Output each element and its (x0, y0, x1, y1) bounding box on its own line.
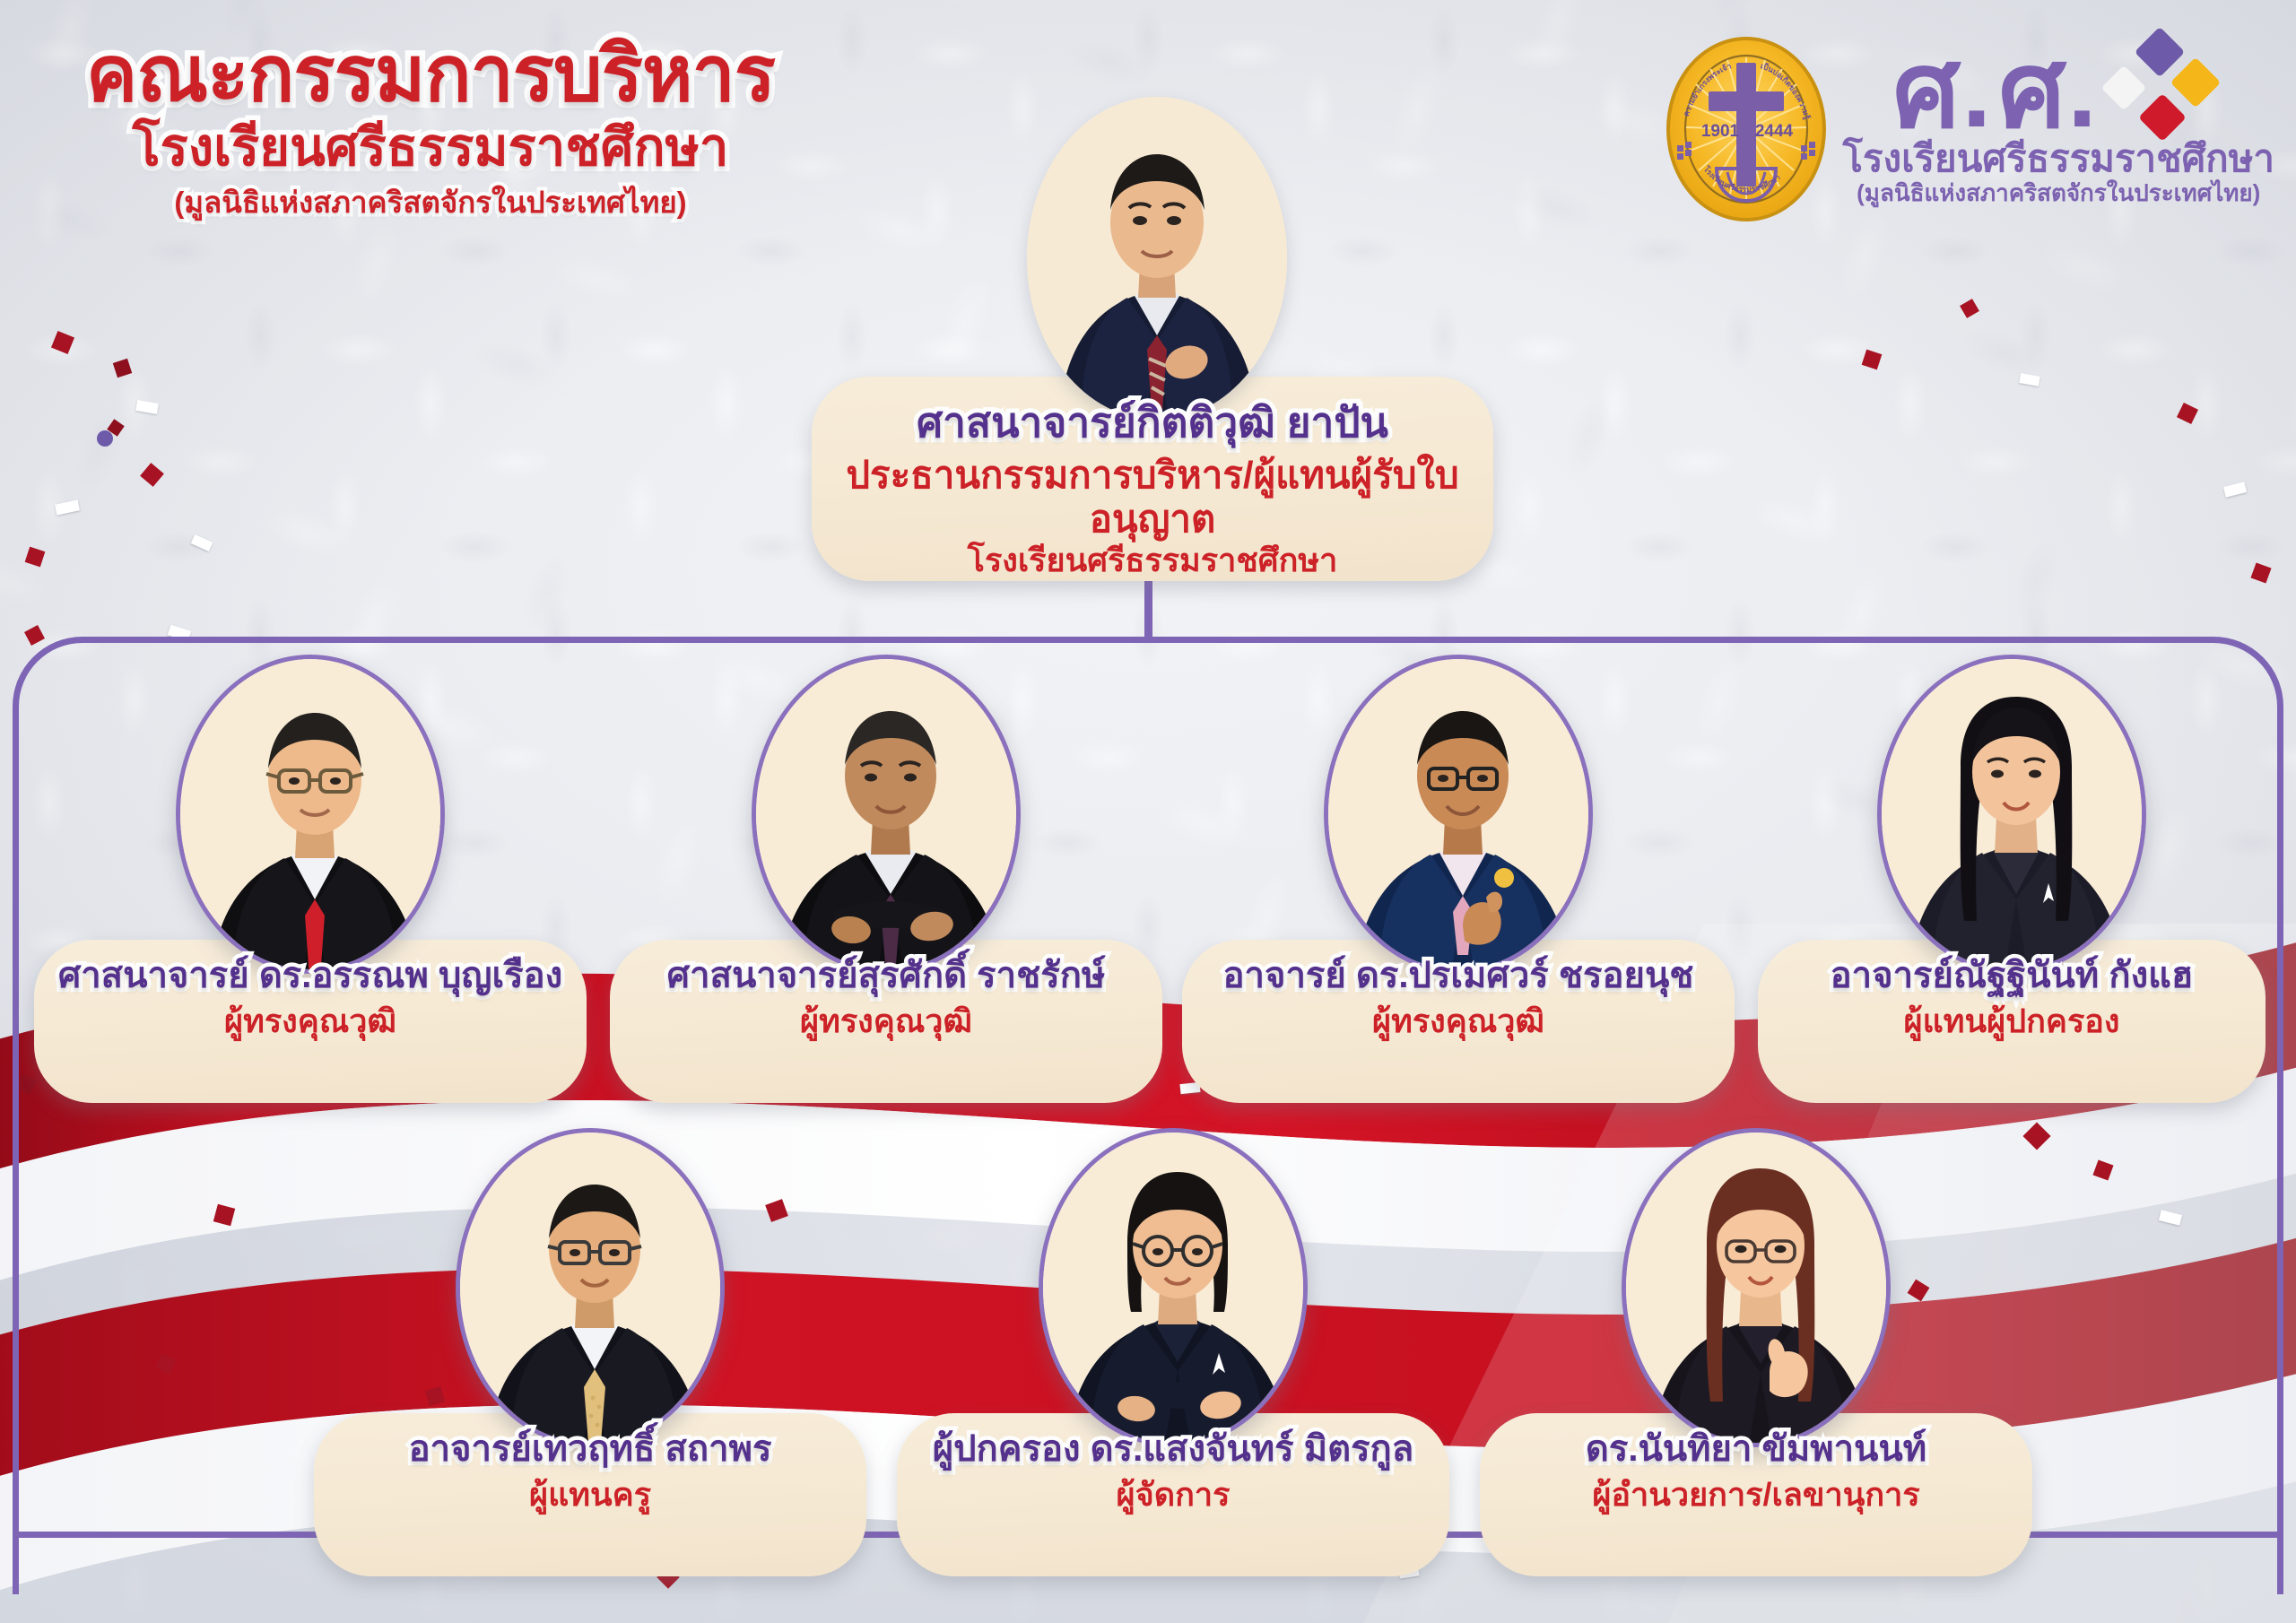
member-portrait-frame (456, 1128, 725, 1447)
school-wordmark-block: ศ. ศ. โรงเรียนศรีธรรมราชศึกษา (มูลนิธิแห… (1842, 32, 2274, 206)
member-text: ดร.นันทิยา ขัมพานนท์ ผู้อำนวยการ/เลขานุก… (1480, 1429, 2032, 1514)
diamond-purple-icon (2135, 27, 2186, 78)
member-portrait (1328, 659, 1593, 974)
member-name: ผู้ปกครอง ดร.แสงจันทร์ มิตรกูล (897, 1429, 1449, 1470)
member-role: ผู้ทรงคุณวุฒิ (34, 1002, 587, 1040)
member-text: อาจารย์ ดร.ปรเมศวร์ ชรอยนุช ผู้ทรงคุณวุฒ… (1182, 956, 1735, 1040)
member-text: ผู้ปกครอง ดร.แสงจันทร์ มิตรกูล ผู้จัดการ (897, 1429, 1449, 1514)
member-role: ผู้ทรงคุณวุฒิ (610, 1002, 1162, 1040)
member-text: ศาสนาจารย์สุรศักดิ์ ราชรักษ์ ผู้ทรงคุณวุ… (610, 956, 1162, 1040)
member-portrait-frame (752, 655, 1021, 974)
org-node-member-1[interactable]: ศาสนาจารย์ ดร.อรรณพ บุญเรือง ผู้ทรงคุณวุ… (34, 655, 587, 1103)
president-portrait-frame (1027, 97, 1287, 420)
logo-foundation-name: (มูลนิธิแห่งสภาคริสตจักรในประเทศไทย) (1842, 180, 2274, 206)
member-portrait-frame (1324, 655, 1593, 974)
president-org: โรงเรียนศรีธรรมราชศึกษา (812, 542, 1493, 578)
member-name: ศาสนาจารย์สุรศักดิ์ ราชรักษ์ (610, 956, 1162, 996)
member-portrait-frame (1039, 1128, 1308, 1447)
crest-year-left: 1901 (1701, 122, 1740, 141)
member-portrait (180, 659, 445, 974)
member-name: ศาสนาจารย์ ดร.อรรณพ บุญเรือง (34, 956, 587, 996)
member-name: อาจารย์ณัฐฐินันท์ กังแฮ (1758, 956, 2266, 996)
member-role: ผู้จัดการ (897, 1476, 1449, 1514)
member-role: ผู้อำนวยการ/เลขานุการ (1480, 1476, 2032, 1514)
member-portrait (1882, 659, 2146, 974)
member-role: ผู้แทนครู (314, 1476, 866, 1514)
member-portrait (460, 1133, 725, 1447)
member-role: ผู้ทรงคุณวุฒิ (1182, 1002, 1735, 1040)
school-logo-block: ศธ 1901 2444 ความยำเกรงพระเจ้า เป็นบ่อเก… (1665, 32, 2274, 222)
logo-diamond-cluster-icon (2106, 34, 2224, 147)
org-connector-line (1144, 574, 1152, 640)
president-role: ประธานกรรมการบริหาร/ผู้แทนผู้รับใบอนุญาต (812, 453, 1493, 542)
member-text: อาจารย์เทวฤทธิ์ สถาพร ผู้แทนครู (314, 1429, 866, 1514)
org-node-member-4[interactable]: อาจารย์ณัฐฐินันท์ กังแฮ ผู้แทนผู้ปกครอง (1758, 655, 2266, 1103)
org-node-member-2[interactable]: ศาสนาจารย์สุรศักดิ์ ราชรักษ์ ผู้ทรงคุณวุ… (610, 655, 1162, 1103)
poster-title-block: คณะกรรมการบริหาร โรงเรียนศรีธรรมราชศึกษา… (45, 34, 816, 220)
diamond-yellow-icon (2170, 57, 2222, 108)
school-wordmark: ศ. ศ. (1842, 34, 2274, 147)
page-title: คณะกรรมการบริหาร (45, 34, 816, 116)
member-portrait (1043, 1133, 1308, 1447)
member-portrait-frame (176, 655, 445, 974)
org-chart-poster: คณะกรรมการบริหาร โรงเรียนศรีธรรมราชศึกษา… (0, 0, 2296, 1623)
org-node-member-5[interactable]: อาจารย์เทวฤทธิ์ สถาพร ผู้แทนครู (314, 1128, 866, 1576)
diamond-white-icon (2100, 65, 2146, 111)
page-subtitle-foundation: (มูลนิธิแห่งสภาคริสตจักรในประเทศไทย) (45, 185, 816, 221)
member-name: อาจารย์ ดร.ปรเมศวร์ ชรอยนุช (1182, 956, 1735, 996)
member-portrait (1626, 1133, 1891, 1447)
member-role: ผู้แทนผู้ปกครอง (1758, 1002, 2266, 1040)
president-name: ศาสนาจารย์กิตติวุฒิ ยาปัน (812, 400, 1493, 447)
member-portrait (756, 659, 1021, 974)
wordmark-letter-left: ศ. (1893, 42, 1994, 140)
member-portrait-frame (1622, 1128, 1891, 1447)
diamond-red-icon (2138, 93, 2187, 142)
president-portrait (1027, 97, 1287, 420)
president-text: ศาสนาจารย์กิตติวุฒิ ยาปัน ประธานกรรมการบ… (812, 400, 1493, 578)
school-crest-icon: ศธ 1901 2444 ความยำเกรงพระเจ้า เป็นบ่อเก… (1665, 36, 1828, 222)
wordmark-letter-right: ศ. (1998, 42, 2099, 140)
member-text: ศาสนาจารย์ ดร.อรรณพ บุญเรือง ผู้ทรงคุณวุ… (34, 956, 587, 1040)
crest-year-right: 2444 (1755, 122, 1794, 141)
member-name: ดร.นันทิยา ขัมพานนท์ (1480, 1429, 2032, 1470)
member-name: อาจารย์เทวฤทธิ์ สถาพร (314, 1429, 866, 1470)
member-portrait-frame (1877, 655, 2146, 974)
org-node-member-7[interactable]: ดร.นันทิยา ขัมพานนท์ ผู้อำนวยการ/เลขานุก… (1480, 1128, 2032, 1576)
org-node-member-3[interactable]: อาจารย์ ดร.ปรเมศวร์ ชรอยนุช ผู้ทรงคุณวุฒ… (1182, 655, 1735, 1103)
member-text: อาจารย์ณัฐฐินันท์ กังแฮ ผู้แทนผู้ปกครอง (1758, 956, 2266, 1040)
page-subtitle-school: โรงเรียนศรีธรรมราชศึกษา (45, 117, 816, 178)
org-node-president[interactable]: ศาสนาจารย์กิตติวุฒิ ยาปัน ประธานกรรมการบ… (812, 97, 1493, 581)
org-node-member-6[interactable]: ผู้ปกครอง ดร.แสงจันทร์ มิตรกูล ผู้จัดการ (897, 1128, 1449, 1576)
